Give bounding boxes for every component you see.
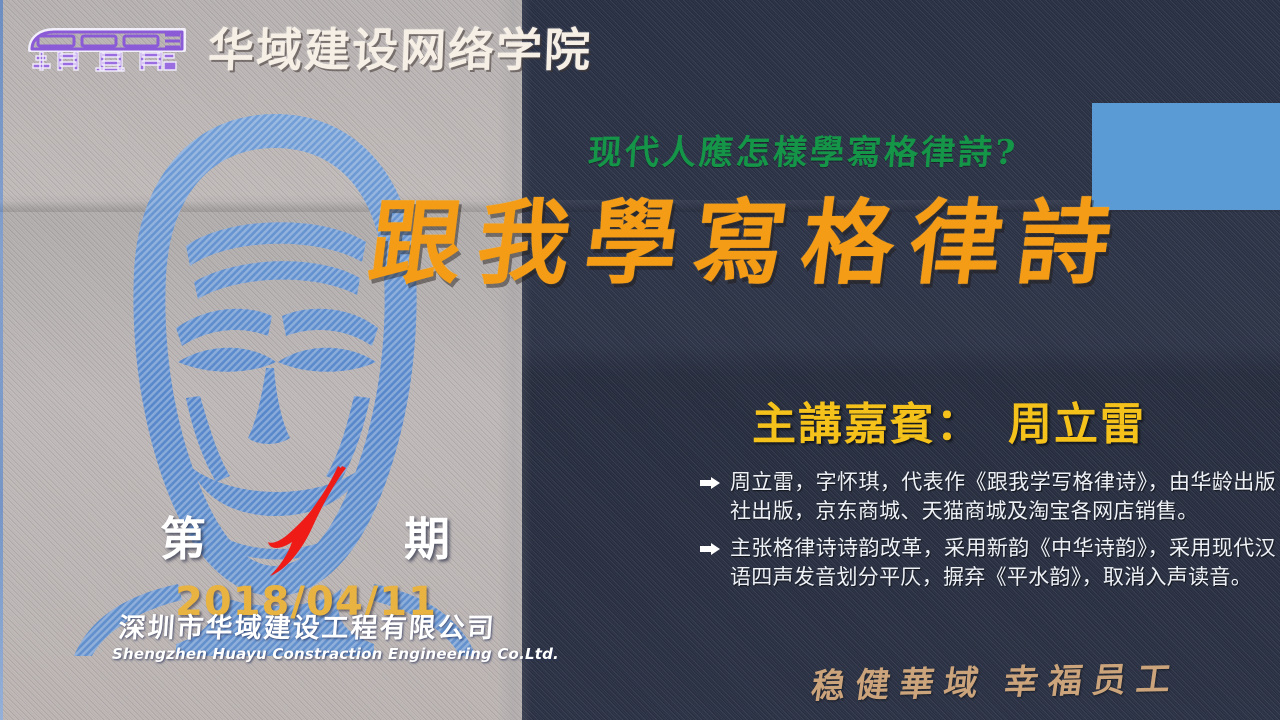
huayu-train-logo-icon xyxy=(24,22,200,78)
list-item: 周立雷，字怀琪，代表作《跟我学写格律诗》，由华龄出版社出版，京东商城、天猫商城及… xyxy=(700,468,1276,526)
list-item-text: 周立雷，字怀琪，代表作《跟我学写格律诗》，由华龄出版社出版，京东商城、天猫商城及… xyxy=(730,468,1276,526)
list-item: 主张格律诗诗韵改革，采用新韵《中华诗韵》，采用现代汉语四声发音划分平仄，摒弃《平… xyxy=(700,534,1276,592)
episode-prefix: 第 xyxy=(160,512,206,566)
slide-subtitle: 现代人應怎樣學寫格律詩? xyxy=(586,131,1149,175)
speaker-bio-list: 周立雷，字怀琪，代表作《跟我学写格律诗》，由华龄出版社出版，京东商城、天猫商城及… xyxy=(700,468,1276,600)
company-name-en: Shengzhen Huayu Constraction Engineering… xyxy=(112,645,502,663)
episode-suffix: 期 xyxy=(404,512,450,566)
episode-number xyxy=(246,458,376,583)
slide-main-title: 跟我學寫格律詩 xyxy=(363,188,1277,298)
slogan-part-1: 稳健華域 xyxy=(809,663,991,707)
header-band: 华域建设网络学院 xyxy=(0,0,1280,94)
company-footer: 深圳市华域建设工程有限公司 Shengzhen Huayu Constracti… xyxy=(112,614,502,663)
speaker-line: 主講嘉賓：周立雷 xyxy=(752,397,1146,453)
slogan-part-2: 幸福员工 xyxy=(1001,659,1183,703)
brand-title: 华域建设网络学院 xyxy=(207,22,593,78)
left-edge-accent-rule xyxy=(0,0,3,720)
list-item-text: 主张格律诗诗韵改革，采用新韵《中华诗韵》，采用现代汉语四声发音划分平仄，摒弃《平… xyxy=(730,534,1276,592)
speaker-name: 周立雷 xyxy=(1008,399,1146,450)
arrow-bullet-icon xyxy=(700,468,730,489)
speaker-label: 主講嘉賓： xyxy=(752,399,982,450)
company-slogan: 稳健華域幸福员工 xyxy=(808,656,1183,710)
arrow-bullet-icon xyxy=(700,534,730,555)
company-name-cn: 深圳市华域建设工程有限公司 xyxy=(111,614,503,644)
panel-divider-feather xyxy=(498,0,532,720)
presentation-slide: 华域建设网络学院 现代人應怎樣學寫格律詩? 跟我學寫格律詩 主講嘉賓：周立雷 周… xyxy=(0,0,1280,720)
